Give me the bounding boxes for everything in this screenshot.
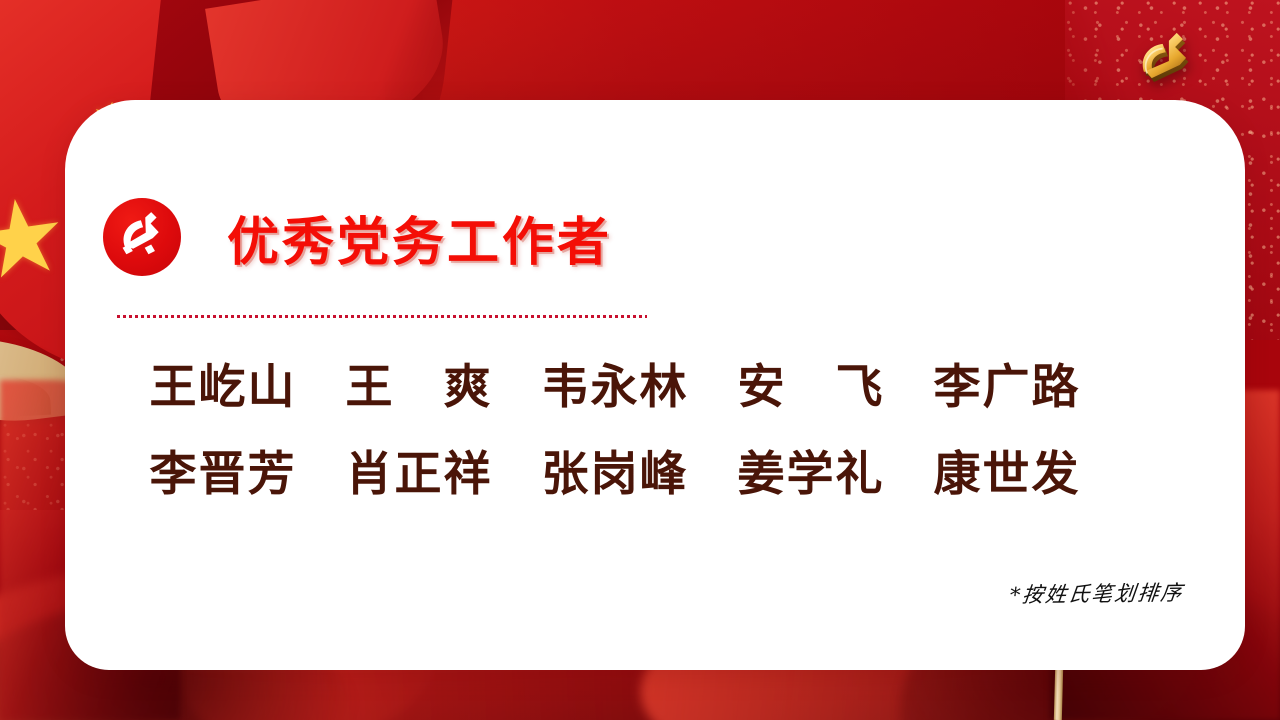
honoree-name: 韦永林 [517,348,713,417]
honoree-name: 王 爽 [321,348,517,417]
honoree-name: 肖正祥 [321,435,517,504]
page-title: 优秀党务工作者 [227,200,612,275]
honoree-name: 张岗峰 [517,435,713,504]
title-divider [117,315,647,318]
honoree-name: 王屹山 [125,348,321,417]
honoree-name: 李晋芳 [125,435,321,504]
sorting-footnote: *按姓氏笔划排序 [1008,577,1185,609]
honoree-name-grid: 王屹山 王 爽 韦永林 安 飞 李广路 李晋芳 肖正祥 张岗峰 姜学礼 康世发 [125,348,1155,522]
honoree-name: 安 飞 [713,348,909,417]
honoree-name: 康世发 [909,435,1105,504]
content-card: 优秀党务工作者 王屹山 王 爽 韦永林 安 飞 李广路 李晋芳 肖正祥 张岗峰 … [65,100,1245,670]
gold-party-emblem-icon [1122,22,1208,100]
honoree-name: 姜学礼 [713,435,909,504]
party-emblem-hammer-sickle-icon [103,198,181,276]
honoree-name: 李广路 [909,348,1105,417]
honoree-row: 李晋芳 肖正祥 张岗峰 姜学礼 康世发 [125,435,1155,504]
honoree-row: 王屹山 王 爽 韦永林 安 飞 李广路 [125,348,1155,417]
card-header: 优秀党务工作者 [103,198,612,276]
